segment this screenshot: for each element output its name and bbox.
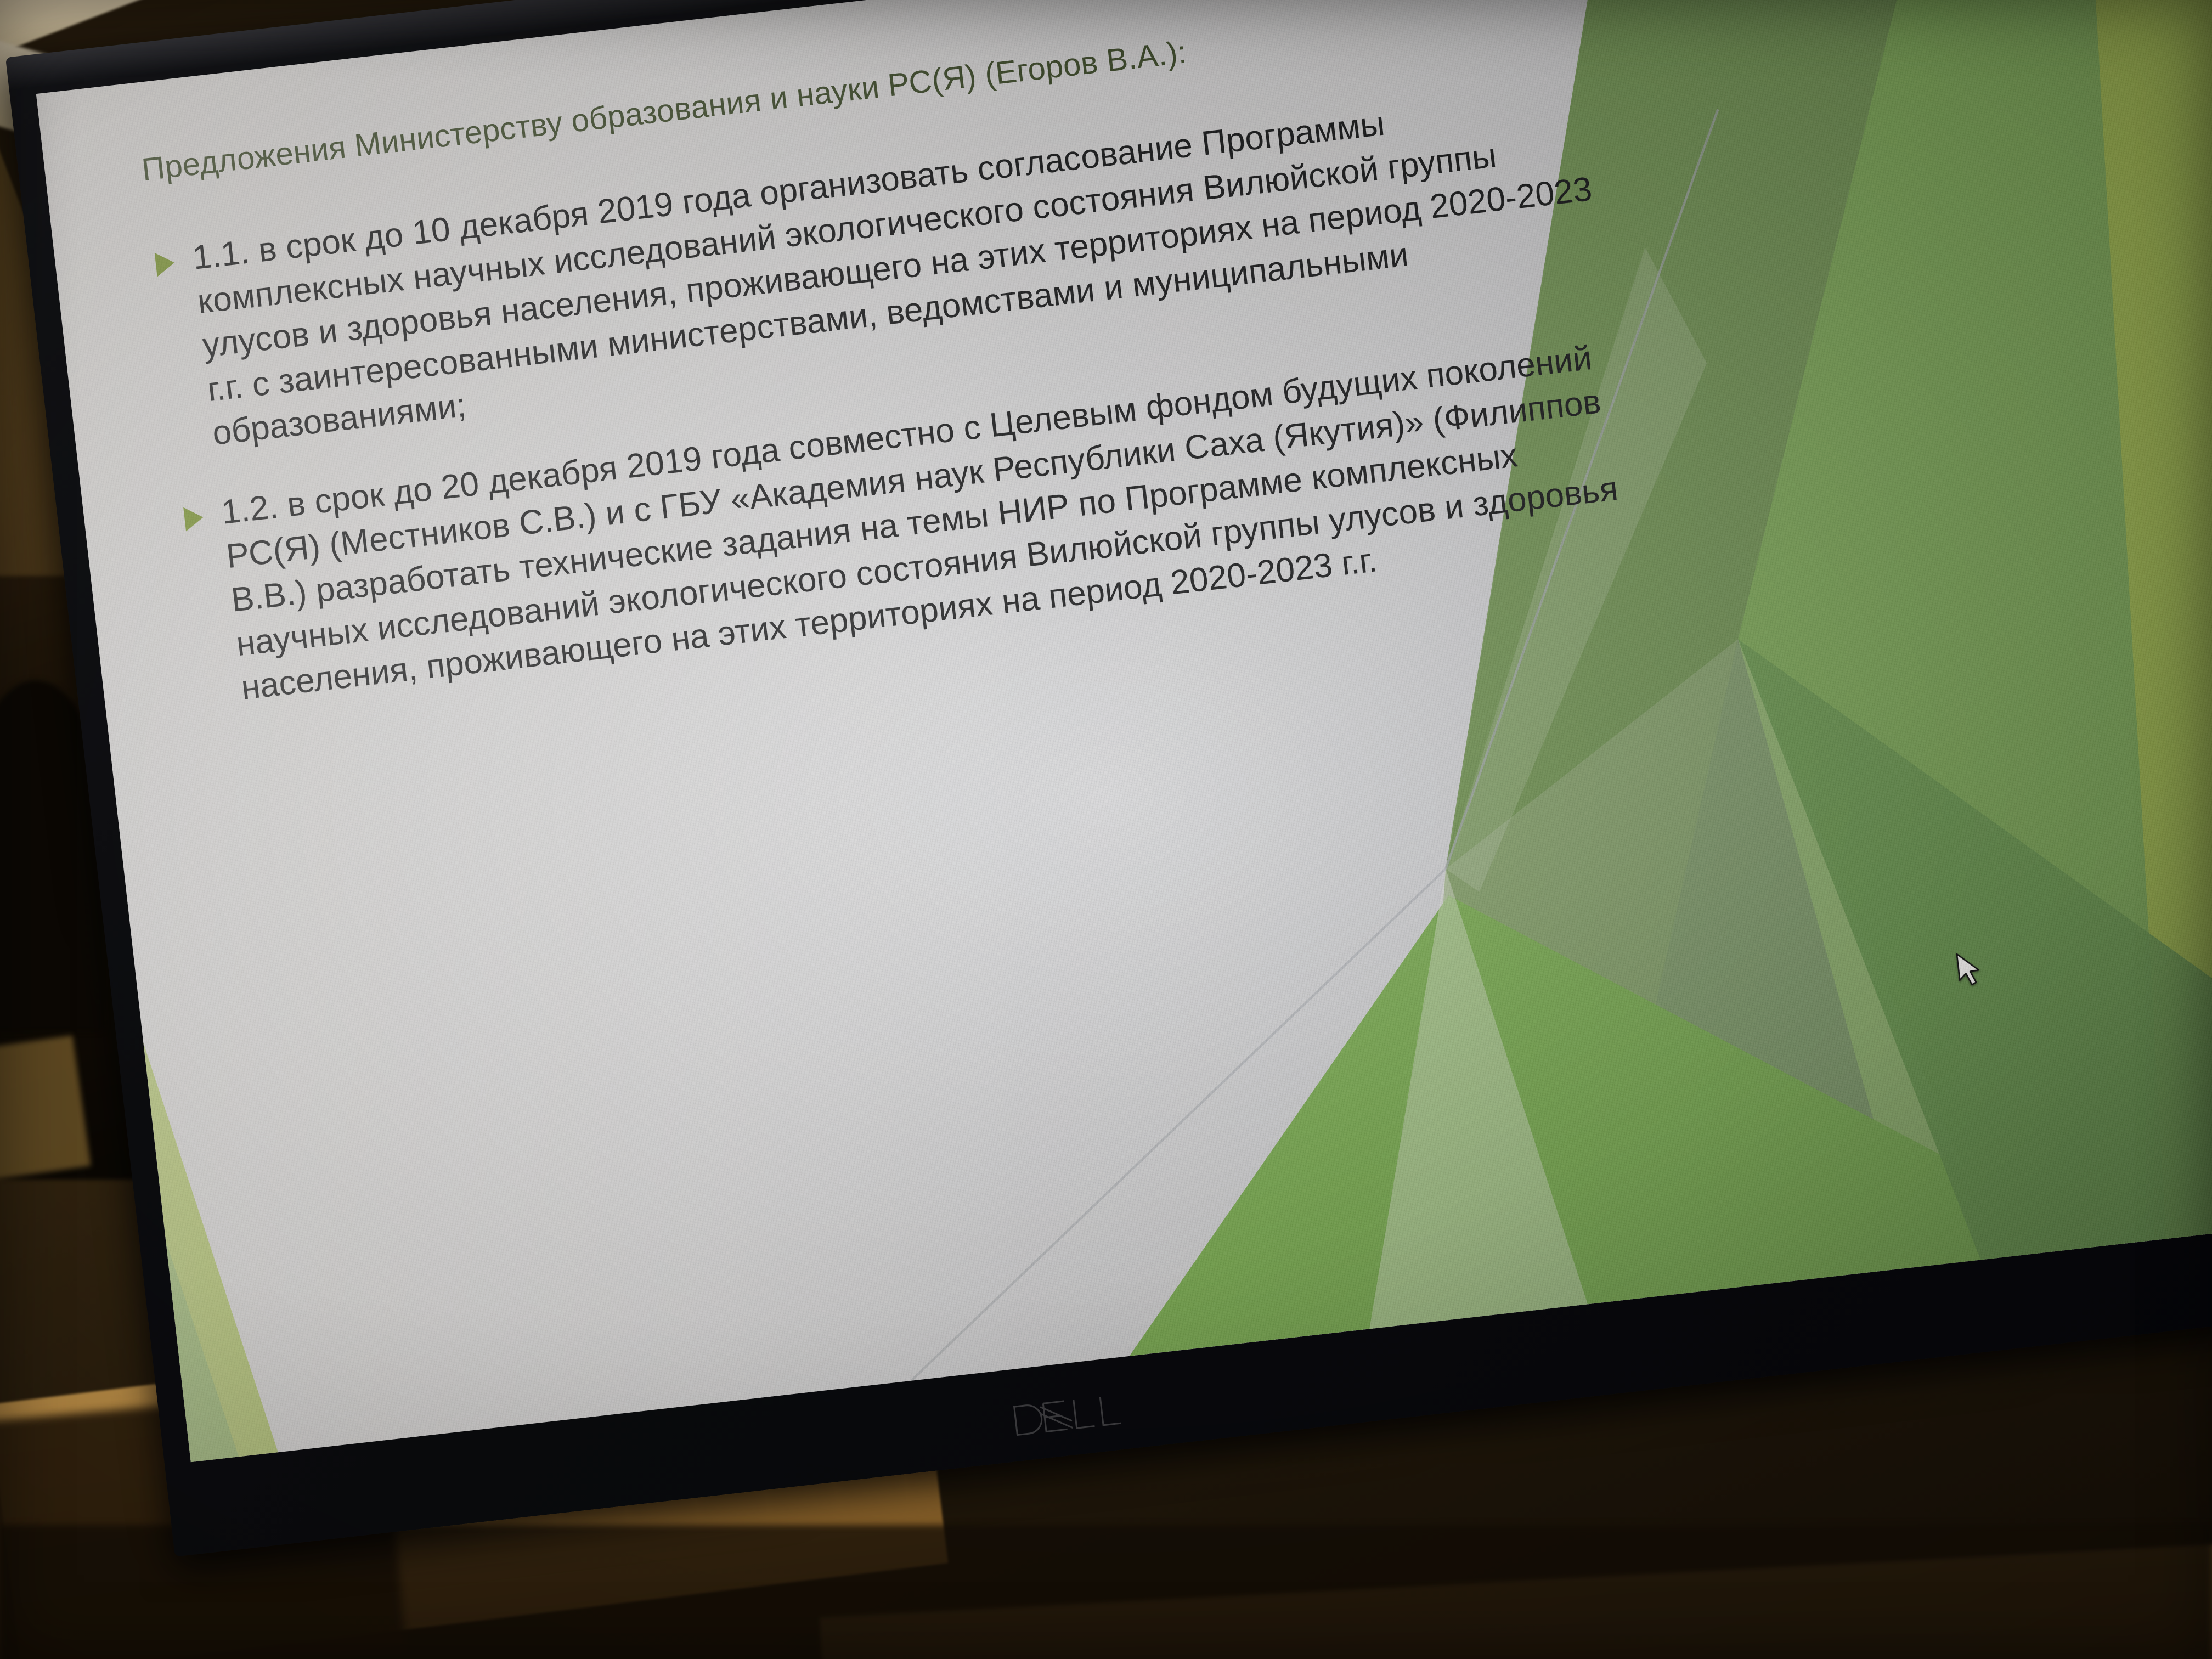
slide-bullet-list: 1.1. в срок до 10 декабря 2019 года орга… xyxy=(150,78,1644,715)
decor-mid-green-right xyxy=(1656,0,2212,1279)
powerpoint-slide[interactable]: Предложения Министерству образования и н… xyxy=(36,0,2212,1462)
triangle-bullet-icon xyxy=(183,505,205,532)
decor-green-bottom-center-2 xyxy=(1738,575,2212,1279)
photo-of-presentation-screen: Предложения Министерству образования и н… xyxy=(0,0,2212,1659)
cursor-arrow-svg xyxy=(1955,950,1984,990)
mouse-pointer-icon xyxy=(1955,950,1984,990)
decor-pale-fan-a xyxy=(1319,859,1588,1329)
decor-lime-right xyxy=(2011,0,2212,1239)
floor-shadow xyxy=(0,1525,2212,1659)
decor-hairline-b xyxy=(861,869,1496,1381)
slide-content: Предложения Министерству образования и н… xyxy=(140,0,1644,715)
triangle-bullet-icon xyxy=(155,251,176,277)
monitor-screen[interactable]: Предложения Министерству образования и н… xyxy=(36,0,2212,1462)
decor-pale-olive-wedge xyxy=(1341,617,2002,1324)
dell-monitor: Предложения Министерству образования и н… xyxy=(5,0,2212,1557)
